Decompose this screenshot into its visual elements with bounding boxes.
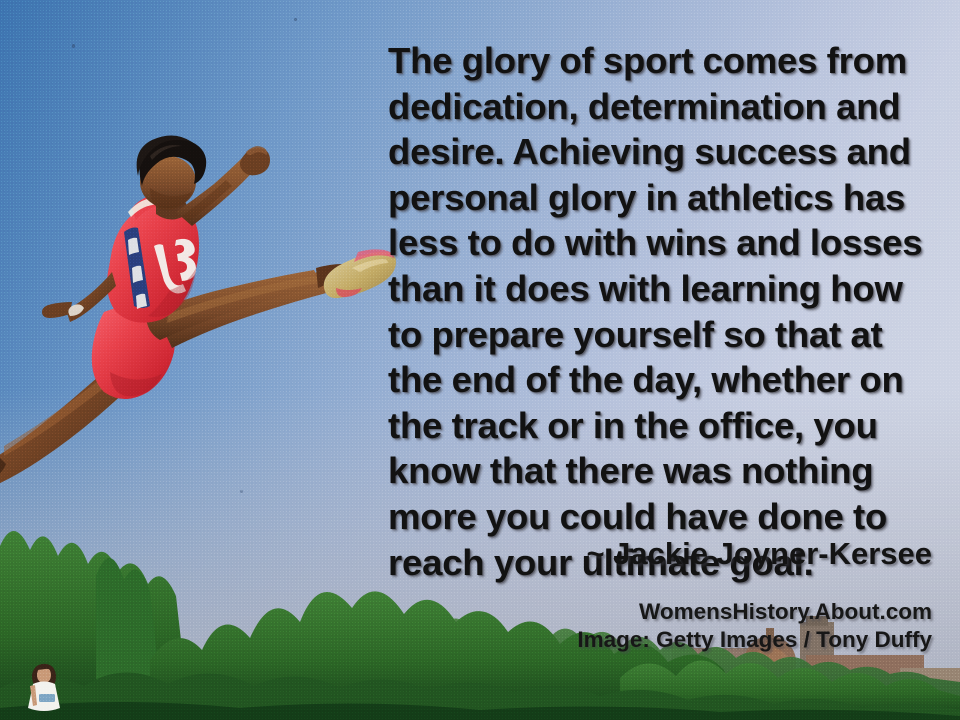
credit-image: Image: Getty Images / Tony Duffy bbox=[577, 626, 932, 654]
credits-block: WomensHistory.About.com Image: Getty Ima… bbox=[577, 598, 932, 654]
quote-graphic: The glory of sport comes from dedication… bbox=[0, 0, 960, 720]
quote-attribution: ~ Jackie Joyner-Kersee bbox=[586, 536, 932, 572]
credit-site: WomensHistory.About.com bbox=[577, 598, 932, 626]
quote-text: The glory of sport comes from dedication… bbox=[388, 38, 940, 585]
